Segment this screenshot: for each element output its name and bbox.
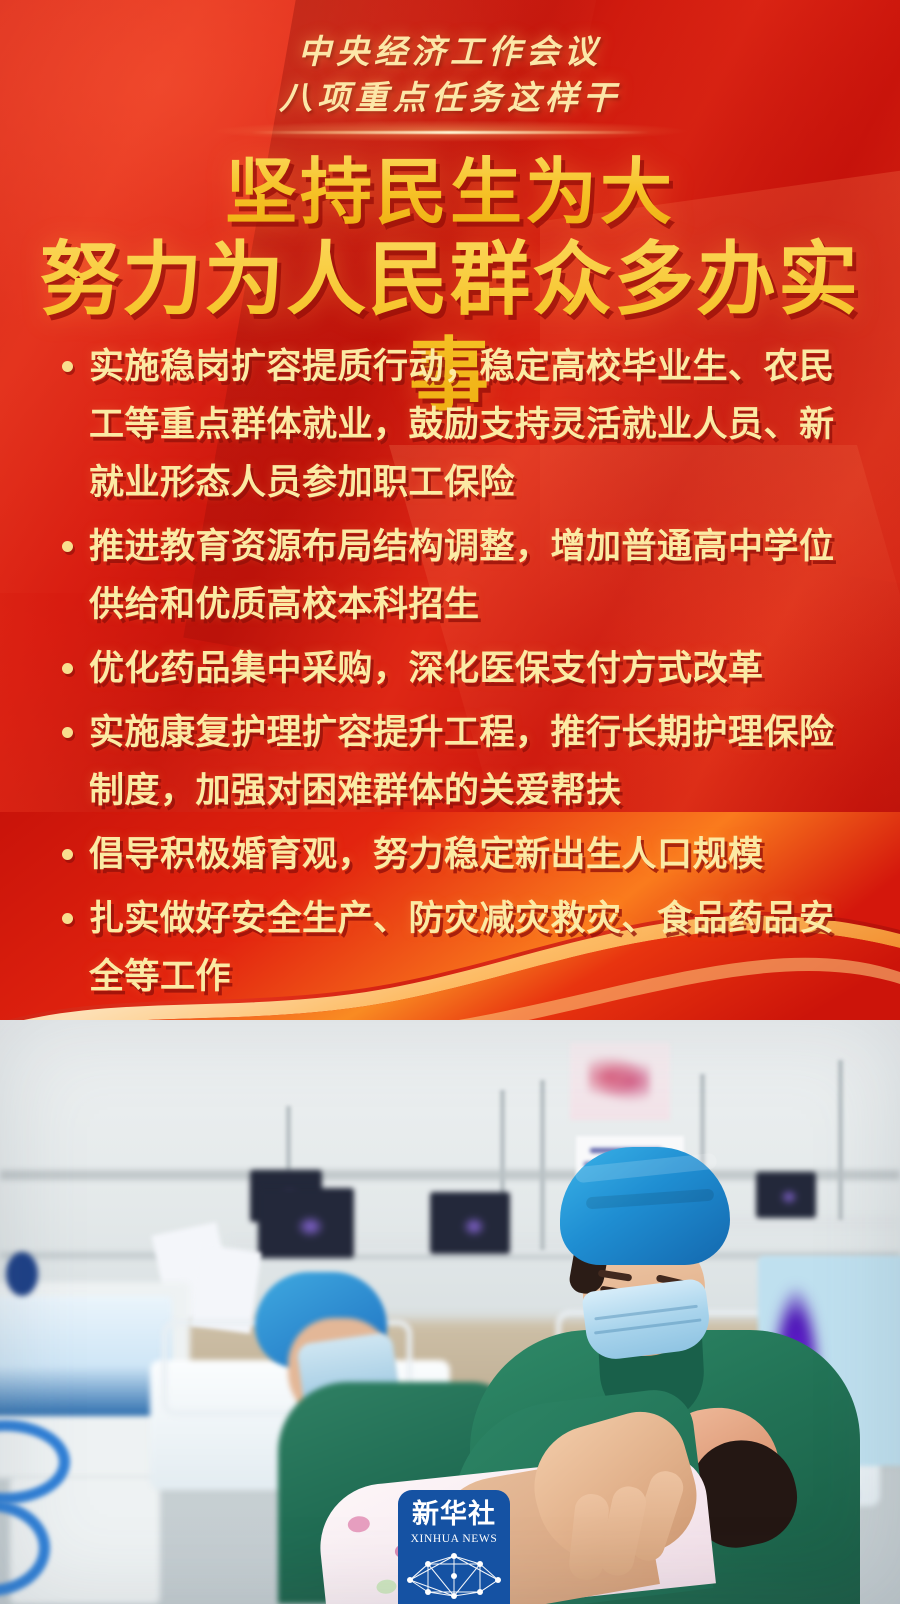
list-item-text: 实施稳岗扩容提质行动，稳定高校毕业生、农民工等重点群体就业，鼓励支持灵活就业人员… <box>89 338 848 512</box>
list-item: 实施稳岗扩容提质行动，稳定高校毕业生、农民工等重点群体就业，鼓励支持灵活就业人员… <box>58 338 848 512</box>
page-title-line-1: 坚持民生为大 <box>0 150 900 236</box>
task-bullet-list: 实施稳岗扩容提质行动，稳定高校毕业生、农民工等重点群体就业，鼓励支持灵活就业人员… <box>58 338 848 1012</box>
ventilator-screen <box>0 1296 172 1416</box>
bullet-dot-icon <box>62 913 73 924</box>
logo-name-en: XINHUA NEWS <box>398 1533 510 1545</box>
list-item: 倡导积极婚育观，努力稳定新出生人口规模 <box>58 826 848 884</box>
list-item-text: 实施康复护理扩容提升工程，推行长期护理保险制度，加强对困难群体的关爱帮扶 <box>89 704 848 820</box>
eyebrow-heading: 中央经济工作会议 八项重点任务这样干 <box>0 30 900 122</box>
list-item: 扎实做好安全生产、防灾减灾救灾、食品药品安全等工作 <box>58 890 848 1006</box>
bullet-dot-icon <box>62 663 73 674</box>
eyebrow-line-2: 八项重点任务这样干 <box>0 76 900 122</box>
bullet-dot-icon <box>62 849 73 860</box>
list-item-text: 扎实做好安全生产、防灾减灾救灾、食品药品安全等工作 <box>89 890 848 1006</box>
list-item-text: 倡导积极婚育观，努力稳定新出生人口规模 <box>89 826 848 884</box>
list-item: 实施康复护理扩容提升工程，推行长期护理保险制度，加强对困难群体的关爱帮扶 <box>58 704 848 820</box>
xinhua-news-logo: 新华社 XINHUA NEWS <box>398 1490 510 1604</box>
header-divider <box>250 131 650 134</box>
eyebrow-line-1: 中央经济工作会议 <box>0 30 900 76</box>
list-item-text: 推进教育资源布局结构调整，增加普通高中学位供给和优质高校本科招生 <box>89 518 848 634</box>
bullet-dot-icon <box>62 727 73 738</box>
monitor <box>430 1192 510 1254</box>
logo-name-cn: 新华社 <box>398 1498 510 1530</box>
list-item: 推进教育资源布局结构调整，增加普通高中学位供给和优质高校本科招生 <box>58 518 848 634</box>
valve-knob <box>6 1252 38 1296</box>
poster-root: 中央经济工作会议 八项重点任务这样干 坚持民生为大 努力为人民群众多办实事 实施… <box>0 0 900 1604</box>
list-item: 优化药品集中采购，深化医保支付方式改革 <box>58 640 848 698</box>
monitor <box>756 1172 816 1218</box>
iv-pole <box>540 1080 545 1250</box>
iv-pole <box>838 1060 843 1220</box>
bullet-dot-icon <box>62 361 73 372</box>
list-item-text: 优化药品集中采购，深化医保支付方式改革 <box>89 640 848 698</box>
monitor <box>258 1188 354 1258</box>
wall-poster-pink <box>570 1042 670 1120</box>
network-graphic-icon <box>404 1550 504 1600</box>
bullet-dot-icon <box>62 541 73 552</box>
